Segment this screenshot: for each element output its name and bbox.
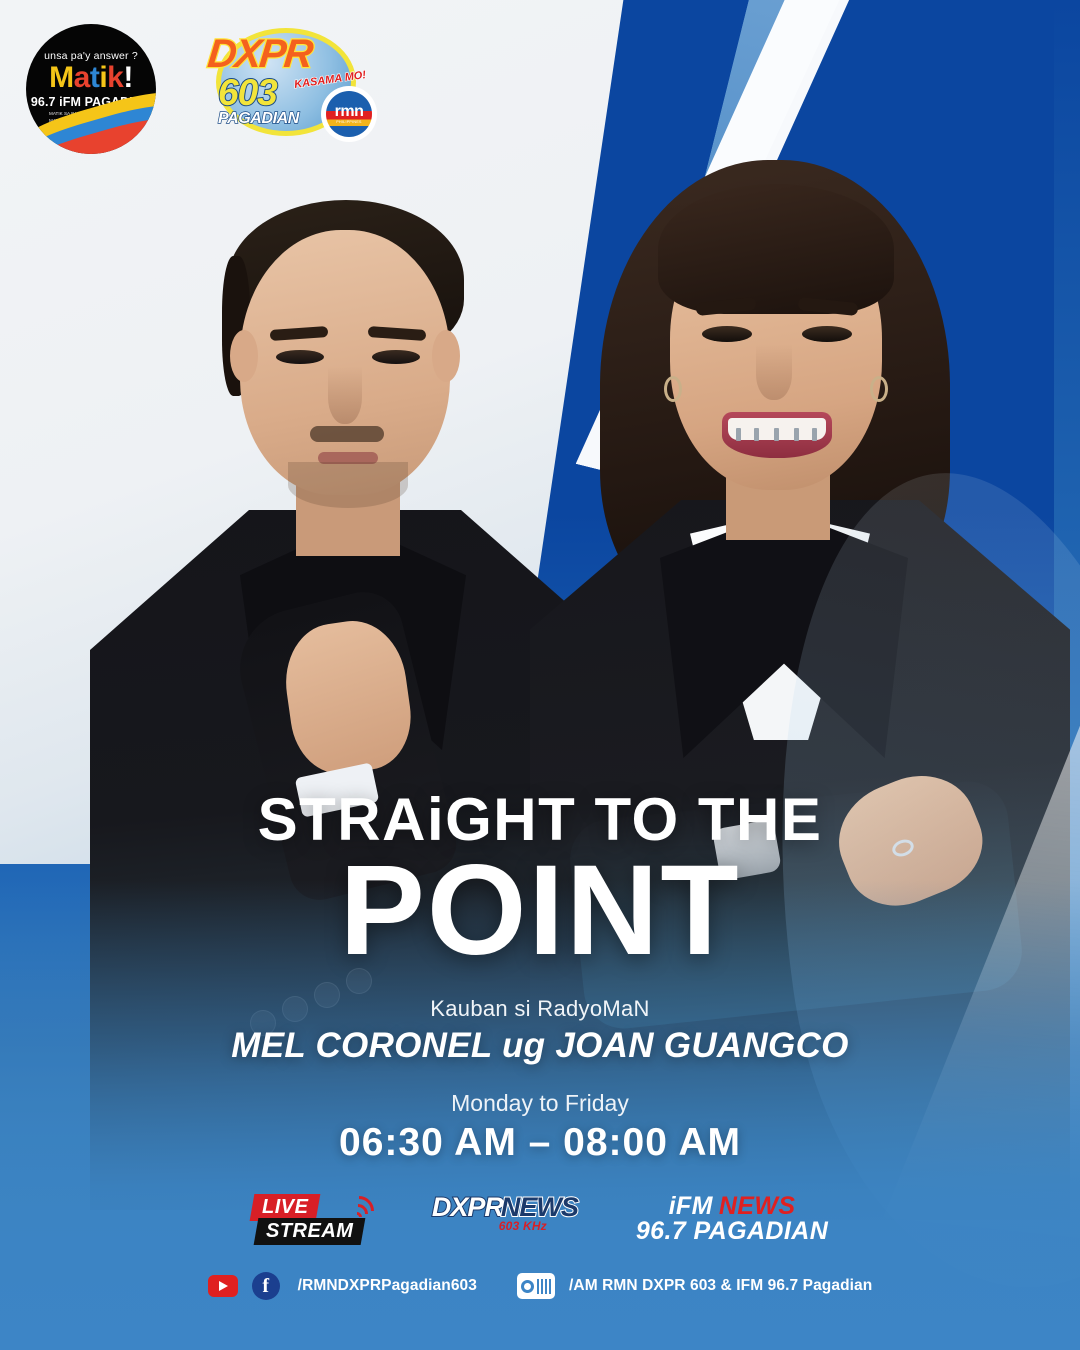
station-list: /AM RMN DXPR 603 & IFM 96.7 Pagadian (569, 1277, 872, 1295)
man-nose (328, 366, 362, 424)
ifm-frequency-location: 96.7 PAGADIAN (636, 1219, 828, 1245)
show-title-line-2: POINT (0, 852, 1080, 970)
man-ear-left (230, 330, 258, 382)
social-handle: /RMNDXPRPagadian603 (298, 1277, 477, 1295)
ifm-news-label: NEWS (719, 1192, 796, 1220)
matik-letter-m: M (49, 61, 74, 94)
man-chin-shadow (288, 462, 408, 508)
dxpr-news-part1: DXPR (432, 1192, 503, 1223)
matik-wordmark: Matik! (49, 63, 133, 93)
woman-hair-front (658, 184, 894, 314)
live-label: LIVE (262, 1196, 308, 1219)
matik-letter-a: a (74, 61, 90, 94)
dxpr-callsign: DXPR (206, 32, 314, 77)
dxpr-frequency: 603 (218, 72, 277, 114)
facebook-icon[interactable]: f (252, 1272, 280, 1300)
matik-exclamation: ! (123, 61, 133, 94)
man-eye-left (276, 350, 324, 364)
matik-logo: unsa pa'y answer ? Matik! 96.7 iFM PAGAD… (26, 24, 156, 154)
radio-icon (517, 1273, 555, 1299)
stream-label: STREAM (266, 1220, 353, 1243)
ifm-news-badge[interactable]: iFMNEWS 96.7 PAGADIAN (636, 1194, 828, 1245)
youtube-icon[interactable] (208, 1275, 238, 1297)
man-eye-right (372, 350, 420, 364)
man-moustache (310, 426, 384, 442)
schedule-time: 06:30 AM – 08:00 AM (0, 1121, 1080, 1165)
woman-earring-right (870, 376, 888, 402)
rmn-badge: rmn PHILIPPINES (321, 86, 377, 142)
ifm-label: iFM (669, 1192, 713, 1220)
rmn-subtitle: PHILIPPINES (336, 120, 361, 124)
schedule-days: Monday to Friday (0, 1090, 1080, 1117)
dxpr-news-khz: 603 KHz (499, 1219, 547, 1233)
matik-letter-i: i (99, 61, 107, 94)
dxpr-logo: DXPR KASAMA MO! 603 PAGADIAN rmn PHILIPP… (202, 24, 377, 144)
man-ear-right (432, 330, 460, 382)
woman-eye-left (702, 326, 752, 342)
woman-earring-left (664, 376, 682, 402)
woman-teeth (728, 418, 826, 440)
woman-smile (722, 412, 832, 458)
dxpr-news-badge[interactable]: DXPR NEWS 603 KHz (432, 1192, 578, 1246)
broadcast-badge-row: LIVE STREAM DXPR NEWS 603 KHz iFMNEWS 96… (0, 1192, 1080, 1246)
promo-poster: unsa pa'y answer ? Matik! 96.7 iFM PAGAD… (0, 0, 1080, 1350)
woman-eye-right (802, 326, 852, 342)
hosts-label: Kauban si RadyoMaN (0, 996, 1080, 1022)
woman-nose (756, 344, 792, 400)
rmn-badge-inner: rmn PHILIPPINES (326, 91, 372, 137)
matik-letter-t: t (90, 61, 100, 94)
social-footer: f /RMNDXPRPagadian603 /AM RMN DXPR 603 &… (0, 1272, 1080, 1300)
matik-ribbon (26, 98, 156, 154)
live-stream-badge[interactable]: LIVE STREAM (252, 1192, 374, 1246)
dxpr-location: PAGADIAN (218, 110, 299, 128)
show-text-block: STRAiGHT TO THE POINT Kauban si RadyoMaN… (0, 790, 1080, 1165)
matik-letter-k: k (107, 61, 123, 94)
station-logo-row: unsa pa'y answer ? Matik! 96.7 iFM PAGAD… (26, 24, 377, 154)
hosts-names: MEL CORONEL ug JOAN GUANGCO (0, 1026, 1080, 1066)
rmn-wordmark: rmn (335, 104, 364, 120)
